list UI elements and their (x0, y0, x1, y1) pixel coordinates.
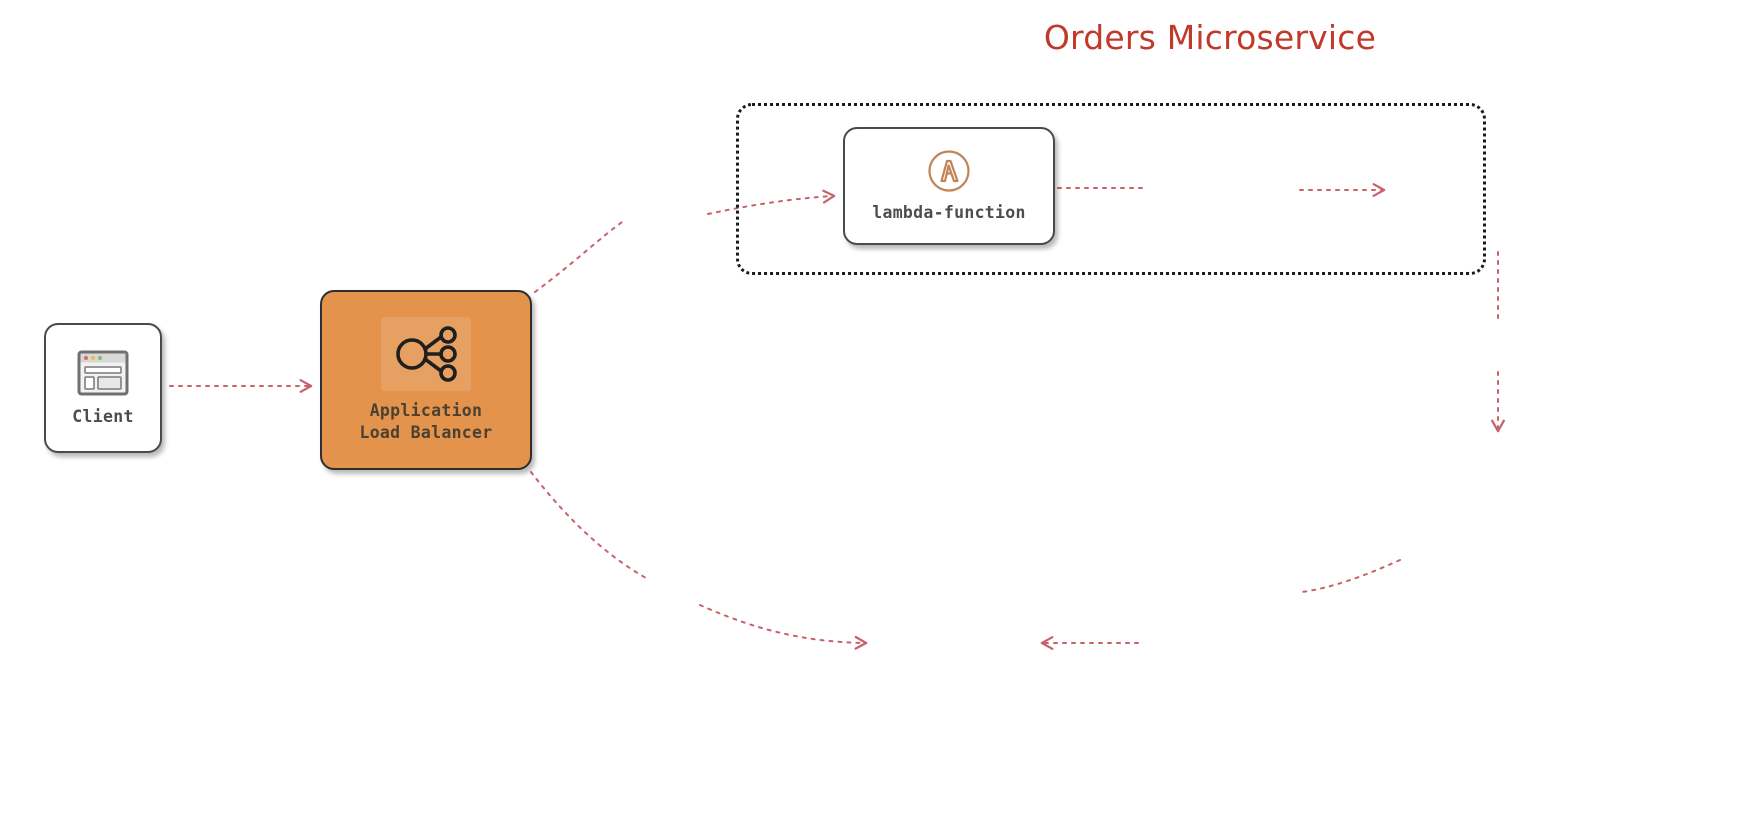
page-title: Orders Microservice (1040, 18, 1380, 57)
diagram-canvas: Orders Microservice (0, 0, 1740, 834)
node-client[interactable]: Client (44, 323, 162, 453)
edge-alb-to-legacy-seg1 (531, 472, 646, 578)
node-alb-label: Application Load Balancer (359, 400, 492, 442)
node-lambda-top-label: lambda-function (872, 202, 1026, 223)
edge-alb-to-lambda-top-seg1 (535, 222, 622, 292)
edge-alb-to-legacy-seg2 (700, 605, 865, 643)
node-client-label: Client (72, 406, 133, 427)
node-application-load-balancer[interactable]: Application Load Balancer (320, 290, 532, 470)
aws-lambda-icon (927, 149, 971, 193)
node-lambda-function-orders[interactable]: lambda-function (843, 127, 1055, 245)
edge-lambda-bottom-to-label (1302, 560, 1400, 592)
browser-window-icon (76, 349, 130, 397)
load-balancer-icon (381, 317, 471, 391)
